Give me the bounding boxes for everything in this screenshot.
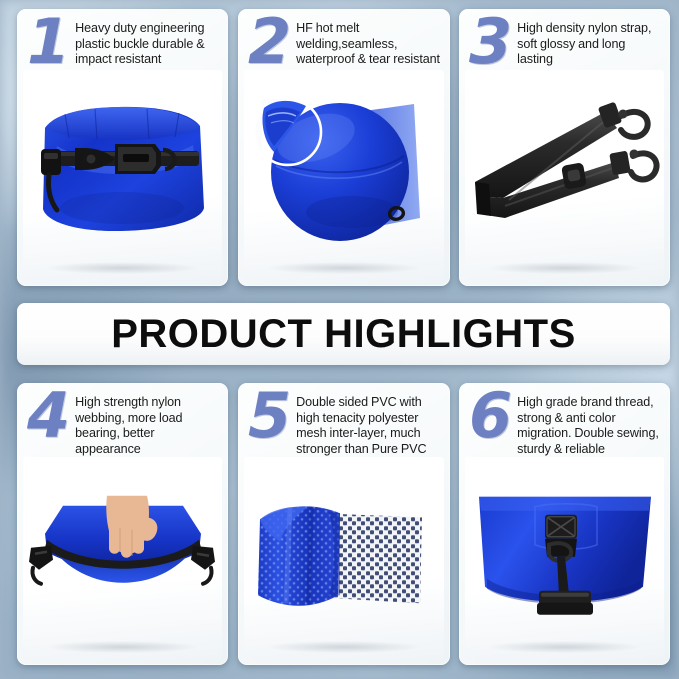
card-1-description: Heavy duty engineering plastic buckle du…: [75, 17, 219, 68]
card-1-header: 1 Heavy duty engineering plastic buckle …: [17, 9, 228, 70]
card-2-description: HF hot melt welding,seamless, waterproof…: [296, 17, 441, 68]
blue-pvc-roll-with-polyester-mesh-layer-icon: [244, 457, 444, 659]
card-3-number: 3: [469, 13, 510, 70]
card-5-photo: [244, 457, 444, 659]
card-3-header: 3 High density nylon strap, soft glossy …: [459, 9, 670, 70]
highlight-card-2: 2 HF hot melt welding,seamless, waterpro…: [238, 9, 450, 286]
card-1-photo: [23, 70, 222, 280]
card-5-header: 5 Double sided PVC with high tenacity po…: [238, 383, 450, 457]
card-1-number: 1: [27, 13, 68, 70]
card-6-description: High grade brand thread, strong & anti c…: [517, 391, 661, 457]
card-2-photo: [244, 70, 444, 280]
highlight-card-5: 5 Double sided PVC with high tenacity po…: [238, 383, 450, 665]
highlight-card-6: 6 High grade brand thread, strong & anti…: [459, 383, 670, 665]
product-highlights-banner: PRODUCT HIGHLIGHTS: [17, 303, 670, 365]
highlight-card-1: 1 Heavy duty engineering plastic buckle …: [17, 9, 228, 286]
card-4-number: 4: [27, 387, 68, 444]
highlight-card-3: 3 High density nylon strap, soft glossy …: [459, 9, 670, 286]
blue-bag-with-stitched-d-ring-buckle-icon: [465, 457, 664, 659]
highlights-grid: 1 Heavy duty engineering plastic buckle …: [0, 0, 679, 679]
blue-dry-bag-with-black-buckle-strap-icon: [23, 70, 222, 280]
card-3-photo: [465, 70, 664, 280]
card-4-photo: [23, 457, 222, 659]
hand-holding-blue-bag-webbing-handle-icon: [23, 457, 222, 659]
card-6-header: 6 High grade brand thread, strong & anti…: [459, 383, 670, 457]
black-nylon-shoulder-strap-with-clips-icon: [465, 70, 664, 280]
banner-title: PRODUCT HIGHLIGHTS: [111, 312, 576, 357]
card-2-number: 2: [248, 13, 289, 70]
blue-welded-bag-base-with-seam-closeup-icon: [244, 70, 444, 280]
card-6-photo: [465, 457, 664, 659]
highlight-card-4: 4 High strength nylon webbing, more load…: [17, 383, 228, 665]
card-3-description: High density nylon strap, soft glossy an…: [517, 17, 661, 68]
card-4-description: High strength nylon webbing, more load b…: [75, 391, 219, 457]
card-6-number: 6: [469, 387, 510, 444]
card-2-header: 2 HF hot melt welding,seamless, waterpro…: [238, 9, 450, 70]
card-5-number: 5: [248, 387, 289, 444]
card-5-description: Double sided PVC with high tenacity poly…: [296, 391, 441, 457]
card-4-header: 4 High strength nylon webbing, more load…: [17, 383, 228, 457]
